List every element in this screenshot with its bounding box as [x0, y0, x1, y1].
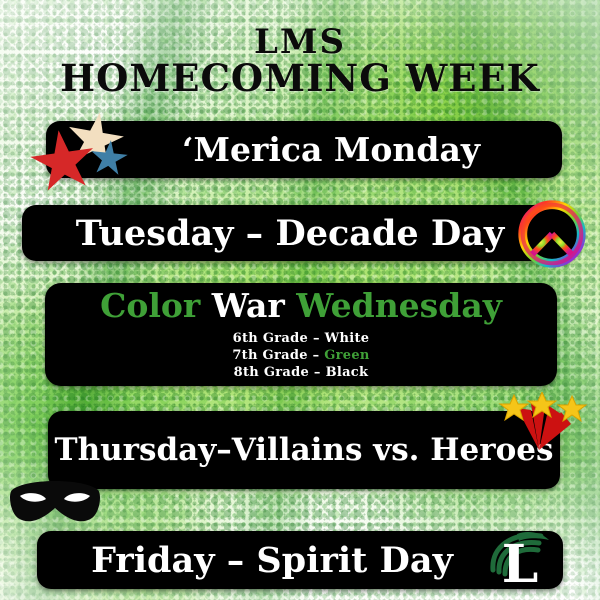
grade-color-8th: Black [326, 365, 369, 380]
wednesday-word-wednesday: Wednesday [296, 286, 502, 325]
grade-color-7th: Green [324, 348, 369, 363]
day-row-thursday[interactable]: Thursday–Villains vs. Heroes [48, 411, 560, 489]
poster-title-event: HOMECOMING WEEK [0, 58, 600, 98]
grade-line-8th: 8th Grade – Black [234, 365, 369, 380]
grade-label-8th: 8th Grade – [234, 365, 326, 380]
grade-color-6th: White [325, 331, 370, 346]
grade-line-6th: 6th Grade – White [233, 331, 370, 346]
grade-label-7th: 7th Grade – [232, 348, 324, 363]
day-row-friday[interactable]: Friday – Spirit Day [37, 531, 563, 589]
day-row-monday[interactable]: ‘Merica Monday [46, 121, 562, 178]
day-row-tuesday[interactable]: Tuesday – Decade Day [22, 205, 578, 261]
day-label-thursday: Thursday–Villains vs. Heroes [48, 435, 560, 466]
day-label-wednesday: Color War Wednesday [100, 289, 502, 322]
grade-label-6th: 6th Grade – [233, 331, 325, 346]
day-label-friday: Friday – Spirit Day [37, 543, 563, 578]
wednesday-word-color: Color [100, 286, 212, 325]
day-row-wednesday[interactable]: Color War Wednesday 6th Grade – White 7t… [45, 283, 557, 386]
grade-color-list: 6th Grade – White 7th Grade – Green 8th … [232, 331, 369, 380]
grade-line-7th: 7th Grade – Green [232, 348, 369, 363]
poster-title-school: LMS [0, 24, 600, 60]
homecoming-week-poster: LMS HOMECOMING WEEK ‘Merica Monday Tuesd… [0, 0, 600, 600]
day-label-monday: ‘Merica Monday [46, 133, 562, 166]
day-label-tuesday: Tuesday – Decade Day [22, 216, 578, 251]
wednesday-word-war: War [212, 286, 296, 325]
